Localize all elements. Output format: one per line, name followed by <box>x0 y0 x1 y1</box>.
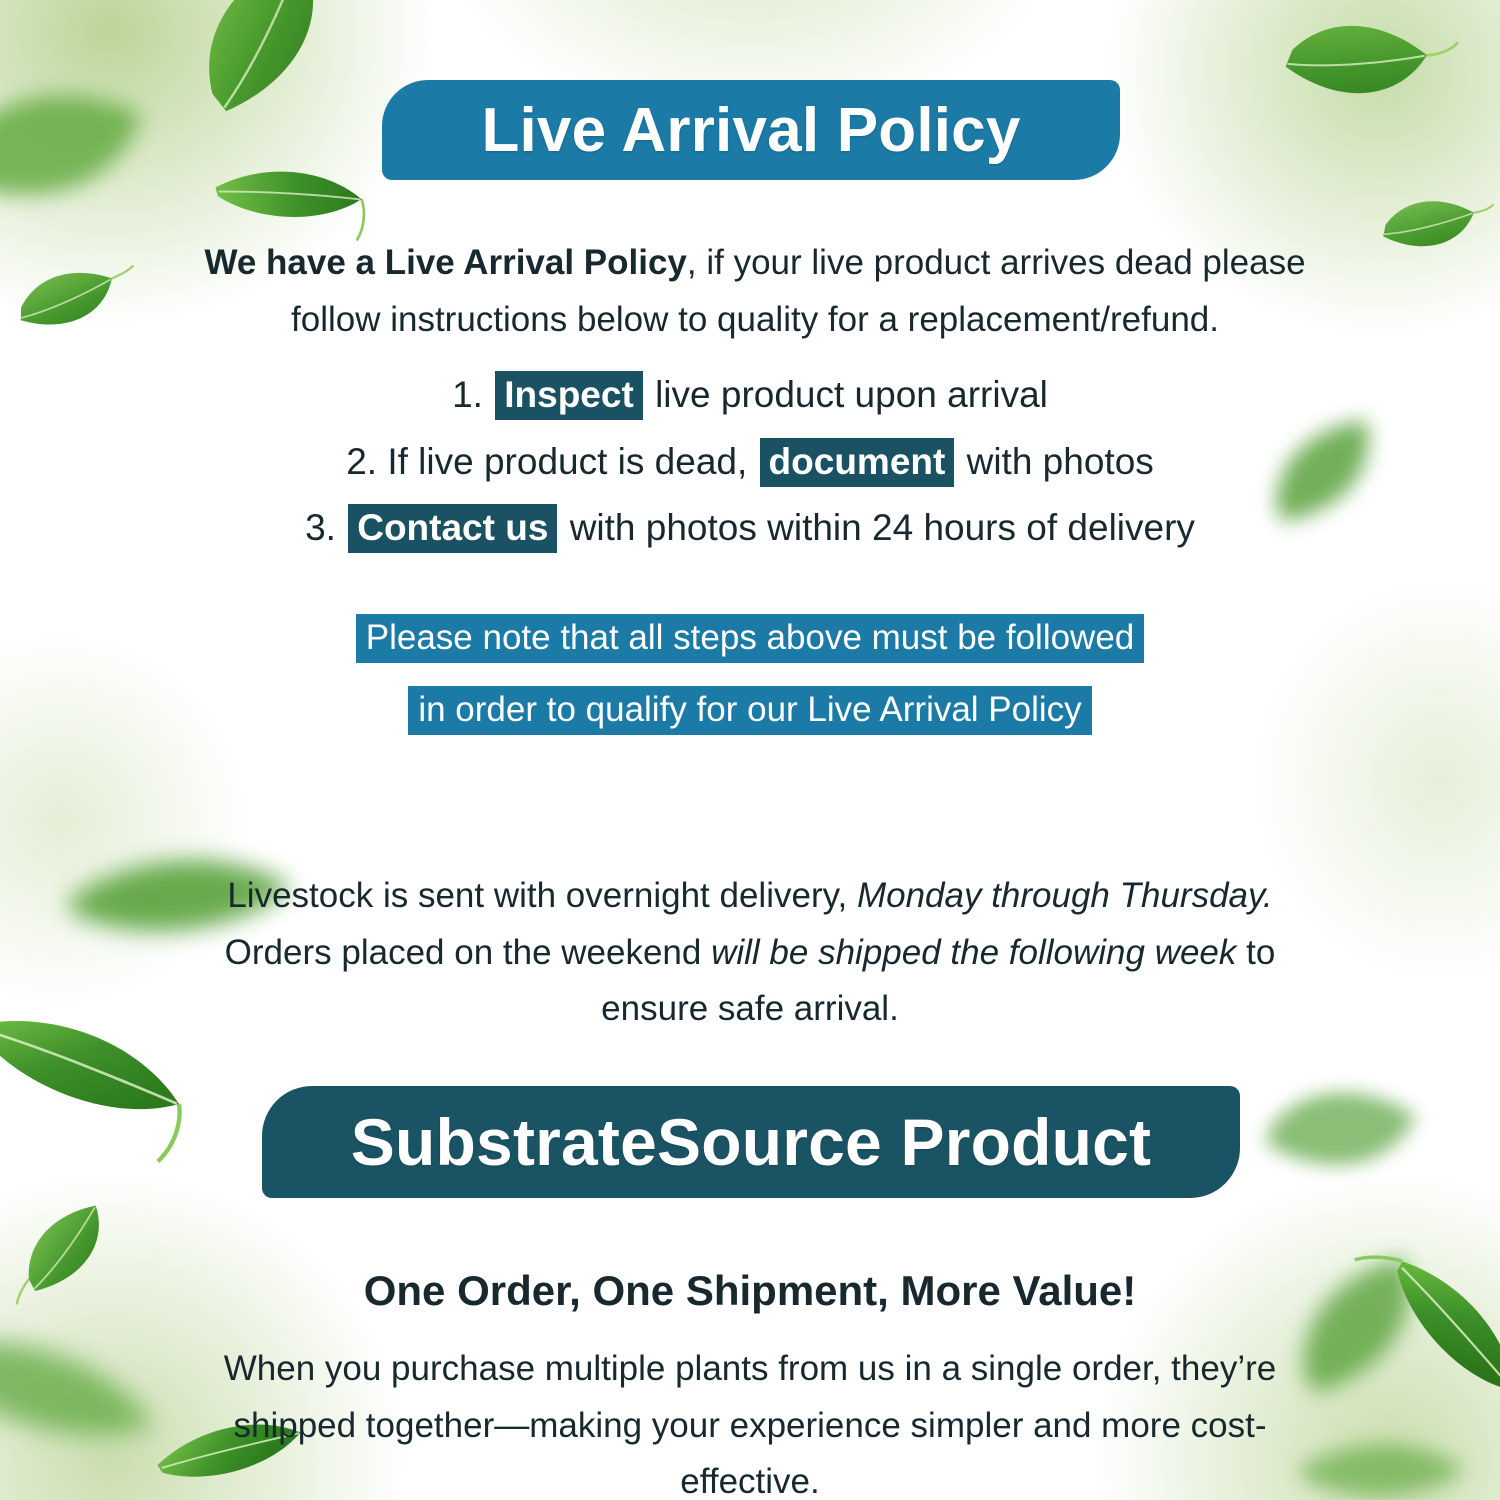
banner-substratesource-product: SubstrateSource Product <box>262 1086 1240 1198</box>
step-highlight-document: document <box>760 438 955 487</box>
step-number: 3. <box>305 507 336 548</box>
product-tagline: One Order, One Shipment, More Value! <box>200 1267 1300 1315</box>
steps-list: 1. Inspect live product upon arrival 2. … <box>150 362 1350 562</box>
shipping-paragraph: Livestock is sent with overnight deliver… <box>200 868 1300 1038</box>
policy-note-line-2: in order to qualify for our Live Arrival… <box>408 686 1091 735</box>
shipping-italic-weekend: will be shipped the following week <box>711 933 1236 972</box>
banner-live-arrival-policy: Live Arrival Policy <box>382 80 1120 180</box>
list-item: 2. If live product is dead, document wit… <box>150 429 1350 496</box>
policy-note: Please note that all steps above must be… <box>150 608 1350 740</box>
product-description: When you purchase multiple plants from u… <box>170 1341 1330 1500</box>
list-item: 3. Contact us with photos within 24 hour… <box>150 495 1350 562</box>
step-highlight-inspect: Inspect <box>495 371 643 420</box>
intro-paragraph: We have a Live Arrival Policy, if your l… <box>170 235 1340 348</box>
step-highlight-contact-us: Contact us <box>348 504 557 553</box>
banner-substratesource-product-label: SubstrateSource Product <box>351 1104 1151 1180</box>
step-text-after: with photos <box>967 441 1154 482</box>
policy-note-line-2-wrap: in order to qualify for our Live Arrival… <box>150 680 1350 740</box>
intro-bold-lead: We have a Live Arrival Policy <box>204 243 686 282</box>
shipping-italic-days: Monday through Thursday. <box>857 876 1273 915</box>
live-arrival-policy-graphic: Live Arrival Policy We have a Live Arriv… <box>0 0 1500 1500</box>
step-text-after: live product upon arrival <box>655 374 1048 415</box>
policy-note-line-1-wrap: Please note that all steps above must be… <box>150 608 1350 668</box>
shipping-part-2: Orders placed on the weekend <box>225 933 711 972</box>
list-item: 1. Inspect live product upon arrival <box>150 362 1350 429</box>
step-number: 1. <box>452 374 483 415</box>
banner-live-arrival-policy-label: Live Arrival Policy <box>481 95 1020 166</box>
step-number: 2. <box>346 441 377 482</box>
step-text-after: with photos within 24 hours of delivery <box>570 507 1195 548</box>
shipping-part-1: Livestock is sent with overnight deliver… <box>227 876 857 915</box>
policy-note-line-1: Please note that all steps above must be… <box>356 614 1145 663</box>
step-text-before: If live product is dead, <box>387 441 747 482</box>
